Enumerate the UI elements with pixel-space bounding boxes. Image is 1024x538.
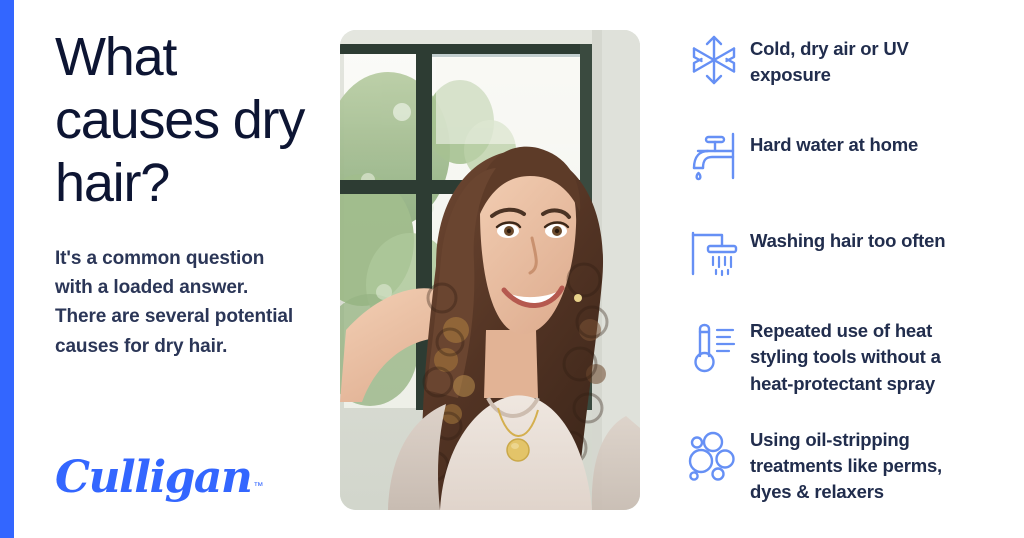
hero-photo-illustration [340,30,640,510]
list-item-label: Hard water at home [750,120,950,158]
shower-icon [678,216,750,288]
culligan-wordmark: Culligan [55,456,251,500]
intro-paragraph: It's a common question with a loaded ans… [55,244,295,362]
bubbles-icon [678,421,750,493]
list-item-label: Repeated use of heat styling tools witho… [750,312,950,397]
causes-list: Cold, dry air or UV exposure Hard water … [678,24,1008,506]
intro-column: What causes dry hair? It's a common ques… [55,26,320,512]
thermometer-icon [678,312,750,384]
brand-logo: Culligan ™ [55,456,263,500]
list-item: Hard water at home [678,120,1008,192]
list-item: Using oil-stripping treatments like perm… [678,421,1008,506]
list-item: Washing hair too often [678,216,1008,288]
left-accent-bar [0,0,14,538]
infographic-canvas: What causes dry hair? It's a common ques… [0,0,1024,538]
page-title: What causes dry hair? [55,26,320,216]
list-item: Cold, dry air or UV exposure [678,24,1008,96]
list-item: Repeated use of heat styling tools witho… [678,312,1008,397]
trademark-symbol: ™ [253,481,263,492]
snowflake-icon [678,24,750,96]
list-item-label: Using oil-stripping treatments like perm… [750,421,950,506]
faucet-icon [678,120,750,192]
list-item-label: Cold, dry air or UV exposure [750,24,950,89]
hero-photo [340,30,640,510]
list-item-label: Washing hair too often [750,216,950,254]
